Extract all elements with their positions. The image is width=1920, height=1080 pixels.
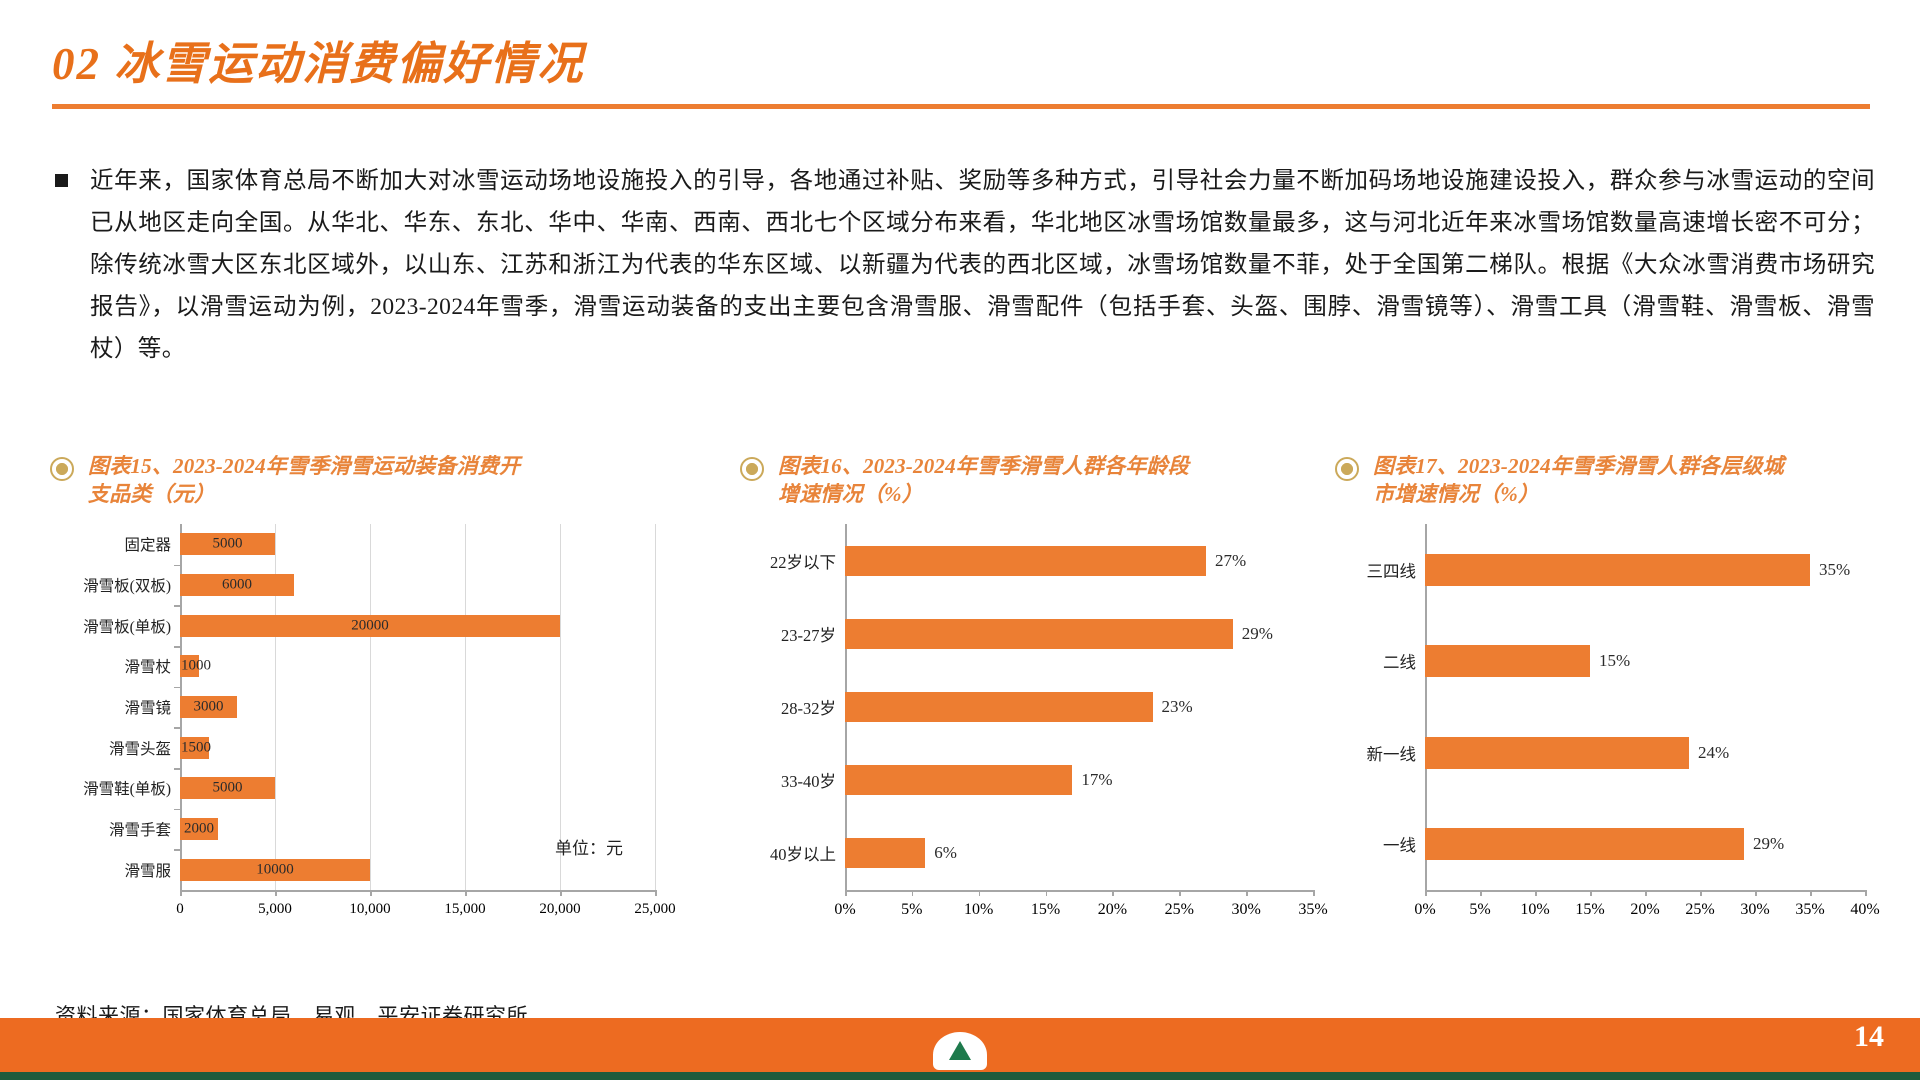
x-axis-tick-label: 10% [1520,901,1549,919]
bar[interactable] [180,777,275,799]
x-axis-tick [1246,890,1248,896]
bar-row[interactable]: 固定器5000 [50,533,655,555]
bar-track: 35% [1425,554,1865,586]
chart-15-title-line-1: 图表15、2023-2024年雪季滑雪运动装备消费开 [88,452,520,480]
y-axis-tick [174,849,180,851]
x-axis-tick-label: 20% [1630,901,1659,919]
bar-row[interactable]: 滑雪板(双板)6000 [50,574,655,596]
chart-16-title-line-1: 图表16、2023-2024年雪季滑雪人群各年龄段 [778,452,1189,480]
x-axis-tick [1755,890,1757,896]
bar-track: 5000 [180,533,655,555]
bar-track: 27% [845,546,1313,576]
chart-16-header: 图表16、2023-2024年雪季滑雪人群各年龄段 增速情况（%） [740,452,1335,518]
donut-bullet-icon [50,457,74,481]
y-axis-tick [174,809,180,811]
chart-15-header: 图表15、2023-2024年雪季滑雪运动装备消费开 支品类（元） [50,452,710,518]
category-label: 滑雪头盔 [50,737,180,759]
category-label: 28-32岁 [740,695,845,719]
bar-track: 3000 [180,696,655,718]
x-axis-tick-label: 20% [1098,901,1127,919]
bar-row[interactable]: 二线15% [1335,645,1865,677]
bar-row[interactable]: 三四线35% [1335,554,1865,586]
bar-value-label: 15% [1599,651,1630,671]
x-axis-tick [1535,890,1537,896]
x-axis-tick-label: 15,000 [444,901,485,918]
bar-row[interactable]: 滑雪杖1000 [50,655,655,677]
slide-header: 02 冰雪运动消费偏好情况 [52,40,1872,109]
category-label: 33-40岁 [740,768,845,792]
bar[interactable] [180,615,560,637]
chart-17-title-line-2: 市增速情况（%） [1373,480,1784,508]
footer-green-strip [0,1072,1920,1080]
category-label: 滑雪板(双板) [50,574,180,596]
square-bullet-icon [55,174,68,187]
chart-panel-16: 图表16、2023-2024年雪季滑雪人群各年龄段 增速情况（%） 22岁以下2… [740,452,1335,942]
chart-15-plot: 固定器5000滑雪板(双板)6000滑雪板(单板)20000滑雪杖1000滑雪镜… [50,524,655,924]
x-axis-tick-label: 25% [1165,901,1194,919]
x-axis-tick [465,890,467,896]
category-label: 滑雪板(单板) [50,615,180,637]
bar-row[interactable]: 一线29% [1335,828,1865,860]
bar-track: 5000 [180,777,655,799]
x-axis-tick [655,890,657,896]
bar-value-label: 27% [1215,551,1246,571]
category-label: 滑雪手套 [50,818,180,840]
bar[interactable] [845,619,1233,649]
charts-row: 图表15、2023-2024年雪季滑雪运动装备消费开 支品类（元） 固定器500… [50,452,1880,942]
x-axis-tick [1313,890,1315,896]
bar-track: 15% [1425,645,1865,677]
y-axis-tick [174,646,180,648]
x-axis-tick [845,890,847,896]
x-axis-tick-label: 5,000 [258,901,292,918]
footer-bar [0,1018,1920,1072]
x-axis-tick [912,890,914,896]
category-label: 三四线 [1335,558,1425,582]
y-axis-tick [174,687,180,689]
chart-15-title-line-2: 支品类（元） [88,480,520,508]
bar-track: 6% [845,838,1313,868]
bar[interactable] [1425,554,1810,586]
chart-17-title-line-1: 图表17、2023-2024年雪季滑雪人群各层级城 [1373,452,1784,480]
chart-15-title: 图表15、2023-2024年雪季滑雪运动装备消费开 支品类（元） [88,452,520,508]
chart-17-title: 图表17、2023-2024年雪季滑雪人群各层级城 市增速情况（%） [1373,452,1784,508]
chart-panel-17: 图表17、2023-2024年雪季滑雪人群各层级城 市增速情况（%） 三四线35… [1335,452,1880,942]
category-label: 40岁以上 [740,841,845,865]
category-label: 固定器 [50,533,180,555]
chart-16-plot: 22岁以下27%23-27岁29%28-32岁23%33-40岁17%40岁以上… [740,524,1313,924]
bar-row[interactable]: 33-40岁17% [740,765,1313,795]
x-axis-tick-label: 0 [176,901,184,918]
bar-row[interactable]: 滑雪头盔1500 [50,737,655,759]
x-axis-tick-label: 10,000 [349,901,390,918]
y-axis-tick [174,605,180,607]
bar[interactable] [180,859,370,881]
category-label: 滑雪杖 [50,655,180,677]
x-axis-tick-label: 15% [1031,901,1060,919]
x-axis-tick-label: 15% [1575,901,1604,919]
bar[interactable] [845,765,1072,795]
x-axis-tick-label: 40% [1850,901,1879,919]
bar-value-label: 29% [1242,624,1273,644]
category-label: 一线 [1335,832,1425,856]
x-axis-tick [1480,890,1482,896]
bar-row[interactable]: 滑雪镜3000 [50,696,655,718]
unit-annotation: 单位：元 [555,834,623,859]
bar-row[interactable]: 28-32岁23% [740,692,1313,722]
y-axis-tick [174,727,180,729]
x-axis-tick-label: 5% [1469,901,1490,919]
x-axis-tick-label: 35% [1795,901,1824,919]
x-axis-tick [370,890,372,896]
pingan-logo-icon [933,1032,987,1070]
gridline [655,524,656,890]
x-axis-tick-label: 20,000 [539,901,580,918]
bar-row[interactable]: 滑雪板(单板)20000 [50,615,655,637]
bar-value-label: 17% [1081,770,1112,790]
bar-track: 20000 [180,615,655,637]
bar-track: 29% [1425,828,1865,860]
x-axis-tick [1112,890,1114,896]
bar[interactable] [845,546,1206,576]
donut-bullet-icon [1335,457,1359,481]
bar[interactable] [180,737,209,759]
x-axis-tick-label: 5% [901,901,922,919]
bar-row[interactable]: 22岁以下27% [740,546,1313,576]
category-label: 22岁以下 [740,549,845,573]
bar[interactable] [845,692,1153,722]
x-axis-tick [1865,890,1867,896]
x-axis-line [845,890,1313,892]
y-axis-tick [174,768,180,770]
x-axis-tick-label: 35% [1298,901,1327,919]
bar-row[interactable]: 40岁以上6% [740,838,1313,868]
bar-track: 1000 [180,655,655,677]
chart-16-title-line-2: 增速情况（%） [778,480,1189,508]
body-paragraph: 近年来，国家体育总局不断加大对冰雪运动场地设施投入的引导，各地通过补贴、奖励等多… [90,160,1875,370]
x-axis-tick [1179,890,1181,896]
x-axis-tick [979,890,981,896]
x-axis-tick-label: 0% [1414,901,1435,919]
chart-panel-15: 图表15、2023-2024年雪季滑雪运动装备消费开 支品类（元） 固定器500… [50,452,710,942]
bar-row[interactable]: 23-27岁29% [740,619,1313,649]
chart-16-title: 图表16、2023-2024年雪季滑雪人群各年龄段 增速情况（%） [778,452,1189,508]
x-axis-tick [1046,890,1048,896]
category-label: 23-27岁 [740,622,845,646]
bar-row[interactable]: 新一线24% [1335,737,1865,769]
bar-track: 17% [845,765,1313,795]
bar-value-label: 24% [1698,743,1729,763]
x-axis-tick [560,890,562,896]
x-axis-tick-label: 10% [964,901,993,919]
category-label: 新一线 [1335,741,1425,765]
bar-value-label: 29% [1753,834,1784,854]
x-axis-tick [1425,890,1427,896]
bar-value-label: 6% [934,843,957,863]
bar-track: 29% [845,619,1313,649]
bar[interactable] [180,696,237,718]
bar[interactable] [180,655,199,677]
page-number: 14 [1854,1020,1884,1054]
bar-track: 6000 [180,574,655,596]
bar[interactable] [1425,645,1590,677]
bar-track: 24% [1425,737,1865,769]
bar-row[interactable]: 滑雪服10000 [50,859,655,881]
x-axis-tick [180,890,182,896]
bar[interactable] [180,574,294,596]
x-axis-tick-label: 0% [834,901,855,919]
bar-track: 10000 [180,859,655,881]
bar[interactable] [845,838,925,868]
x-axis-tick-label: 25% [1685,901,1714,919]
x-axis-tick-label: 30% [1740,901,1769,919]
x-axis-tick-label: 25,000 [634,901,675,918]
category-label: 滑雪服 [50,859,180,881]
donut-bullet-icon [740,457,764,481]
x-axis-tick [1590,890,1592,896]
x-axis-tick [1645,890,1647,896]
chart-17-header: 图表17、2023-2024年雪季滑雪人群各层级城 市增速情况（%） [1335,452,1880,518]
x-axis-line [180,890,655,892]
page-title: 02 冰雪运动消费偏好情况 [52,40,1872,90]
bar[interactable] [180,818,218,840]
bar-track: 23% [845,692,1313,722]
x-axis-tick [1810,890,1812,896]
bar[interactable] [1425,737,1689,769]
category-label: 二线 [1335,649,1425,673]
bar-row[interactable]: 滑雪鞋(单板)5000 [50,777,655,799]
bar-value-label: 35% [1819,560,1850,580]
y-axis-tick [174,565,180,567]
slide-root: 02 冰雪运动消费偏好情况 近年来，国家体育总局不断加大对冰雪运动场地设施投入的… [0,0,1920,1080]
bar-track: 1500 [180,737,655,759]
chart-17-plot: 三四线35%二线15%新一线24%一线29%0%5%10%15%20%25%30… [1335,524,1865,924]
category-label: 滑雪镜 [50,696,180,718]
category-label: 滑雪鞋(单板) [50,777,180,799]
bar[interactable] [180,533,275,555]
bar[interactable] [1425,828,1744,860]
body-paragraph-block: 近年来，国家体育总局不断加大对冰雪运动场地设施投入的引导，各地通过补贴、奖励等多… [55,160,1875,370]
pingan-logo-mark-icon [949,1041,971,1060]
x-axis-tick [1700,890,1702,896]
x-axis-tick-label: 30% [1231,901,1260,919]
title-underline-rule [52,104,1870,109]
x-axis-tick [275,890,277,896]
bar-value-label: 23% [1162,697,1193,717]
